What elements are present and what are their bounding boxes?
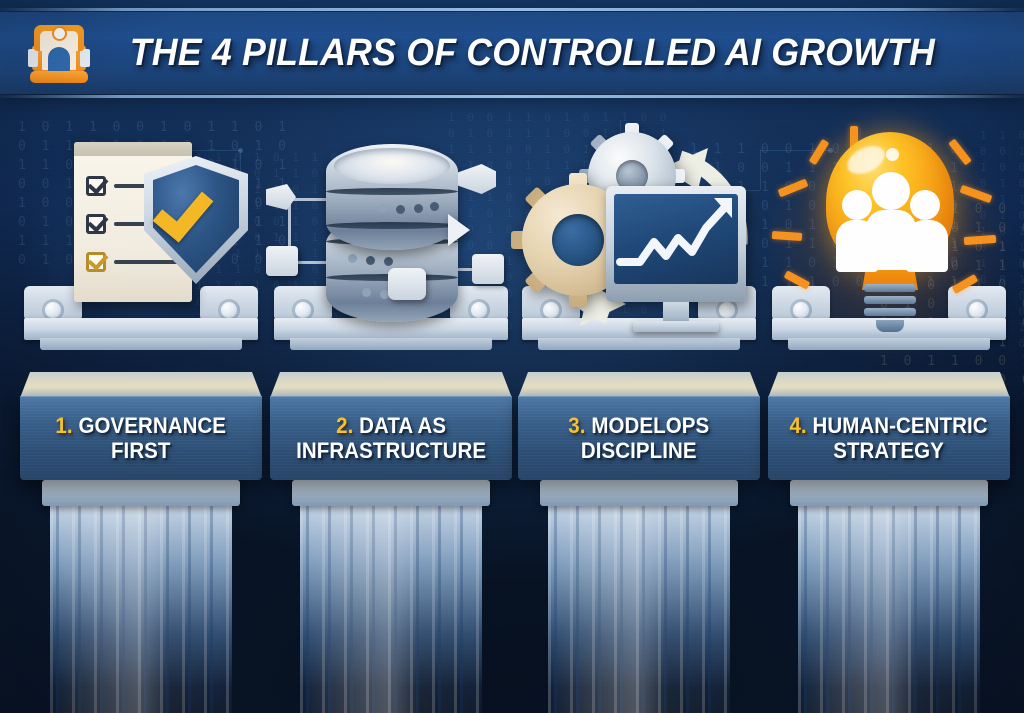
- title-bar: THE 4 PILLARS OF CONTROLLED AI GROWTH: [0, 12, 1024, 94]
- pillar-title-line1: DATA AS: [359, 413, 446, 438]
- data-flow-arrow: [448, 214, 470, 246]
- database-stack-icon: [266, 128, 516, 358]
- pillar-title-line1: GOVERNANCE: [79, 413, 227, 438]
- column-shaft: [798, 504, 980, 713]
- pillar-title-line2: DISCIPLINE: [581, 438, 697, 463]
- pillar-title-line2: FIRST: [111, 438, 171, 463]
- checkbox-gold-icon: [86, 252, 106, 272]
- pillar-human-centric-strategy[interactable]: 4. HUMAN-CENTRIC STRATEGY: [764, 94, 1014, 713]
- monument-bank-icon: [28, 23, 90, 83]
- line-chart-icon: [614, 194, 738, 284]
- lightbulb-people-icon: [764, 128, 1014, 358]
- pillar-label-plaque[interactable]: 1. GOVERNANCE FIRST: [20, 372, 262, 480]
- column-shaft: [300, 504, 482, 713]
- pillars-row: 1. GOVERNANCE FIRST: [0, 94, 1024, 713]
- light-ray: [784, 270, 811, 289]
- pillar-number: 1.: [56, 413, 73, 438]
- light-ray: [778, 179, 809, 198]
- column-shaft-top: [540, 480, 738, 506]
- pillar-title-line2: INFRASTRUCTURE: [296, 438, 486, 463]
- infographic-canvas: 1 0 1 1 0 0 1 0 1 1 0 1 0 1 1 0 1 0 0 1 …: [0, 0, 1024, 713]
- pillar-number: 2.: [336, 413, 353, 438]
- connector-node: [458, 164, 496, 194]
- database-cylinder-top: [326, 144, 458, 250]
- column-shaft-top: [292, 480, 490, 506]
- pillar-title-line2: STRATEGY: [834, 438, 945, 463]
- column-shaft: [50, 504, 232, 713]
- page-title: THE 4 PILLARS OF CONTROLLED AI GROWTH: [129, 32, 934, 75]
- pillar-number: 4.: [790, 413, 807, 438]
- pillar-label-plaque[interactable]: 2. DATA AS INFRASTRUCTURE: [270, 372, 512, 480]
- pillar-data-as-infrastructure[interactable]: 2. DATA AS INFRASTRUCTURE: [266, 94, 516, 713]
- checkbox-checked-icon: [86, 214, 106, 234]
- light-ray: [960, 185, 993, 203]
- checklist-shield-icon: [16, 128, 266, 358]
- pillar-label-plaque[interactable]: 4. HUMAN-CENTRIC STRATEGY: [768, 372, 1010, 480]
- connector-node: [472, 254, 504, 284]
- pillar-number: 3.: [569, 413, 586, 438]
- bulb-screw-base: [864, 284, 916, 328]
- light-ray: [964, 235, 996, 245]
- pillar-governance-first[interactable]: 1. GOVERNANCE FIRST: [16, 94, 266, 713]
- column-shaft-top: [42, 480, 240, 506]
- connector-node: [266, 246, 298, 276]
- light-ray: [772, 231, 802, 241]
- monitor-with-line-chart: [606, 186, 746, 302]
- connector-node: [266, 184, 296, 210]
- pillar-modelops-discipline[interactable]: 3. MODELOPS DISCIPLINE: [514, 94, 764, 713]
- column-shaft-top: [790, 480, 988, 506]
- pillar-label-plaque[interactable]: 3. MODELOPS DISCIPLINE: [518, 372, 760, 480]
- pillar-title-line1: MODELOPS: [592, 413, 710, 438]
- connector-node: [388, 268, 426, 300]
- pillar-title-line1: HUMAN-CENTRIC: [813, 413, 988, 438]
- gears-monitor-chart-icon: [514, 128, 764, 358]
- checkbox-checked-icon: [86, 176, 106, 196]
- lightbulb-icon: [820, 132, 960, 332]
- column-shaft: [548, 504, 730, 713]
